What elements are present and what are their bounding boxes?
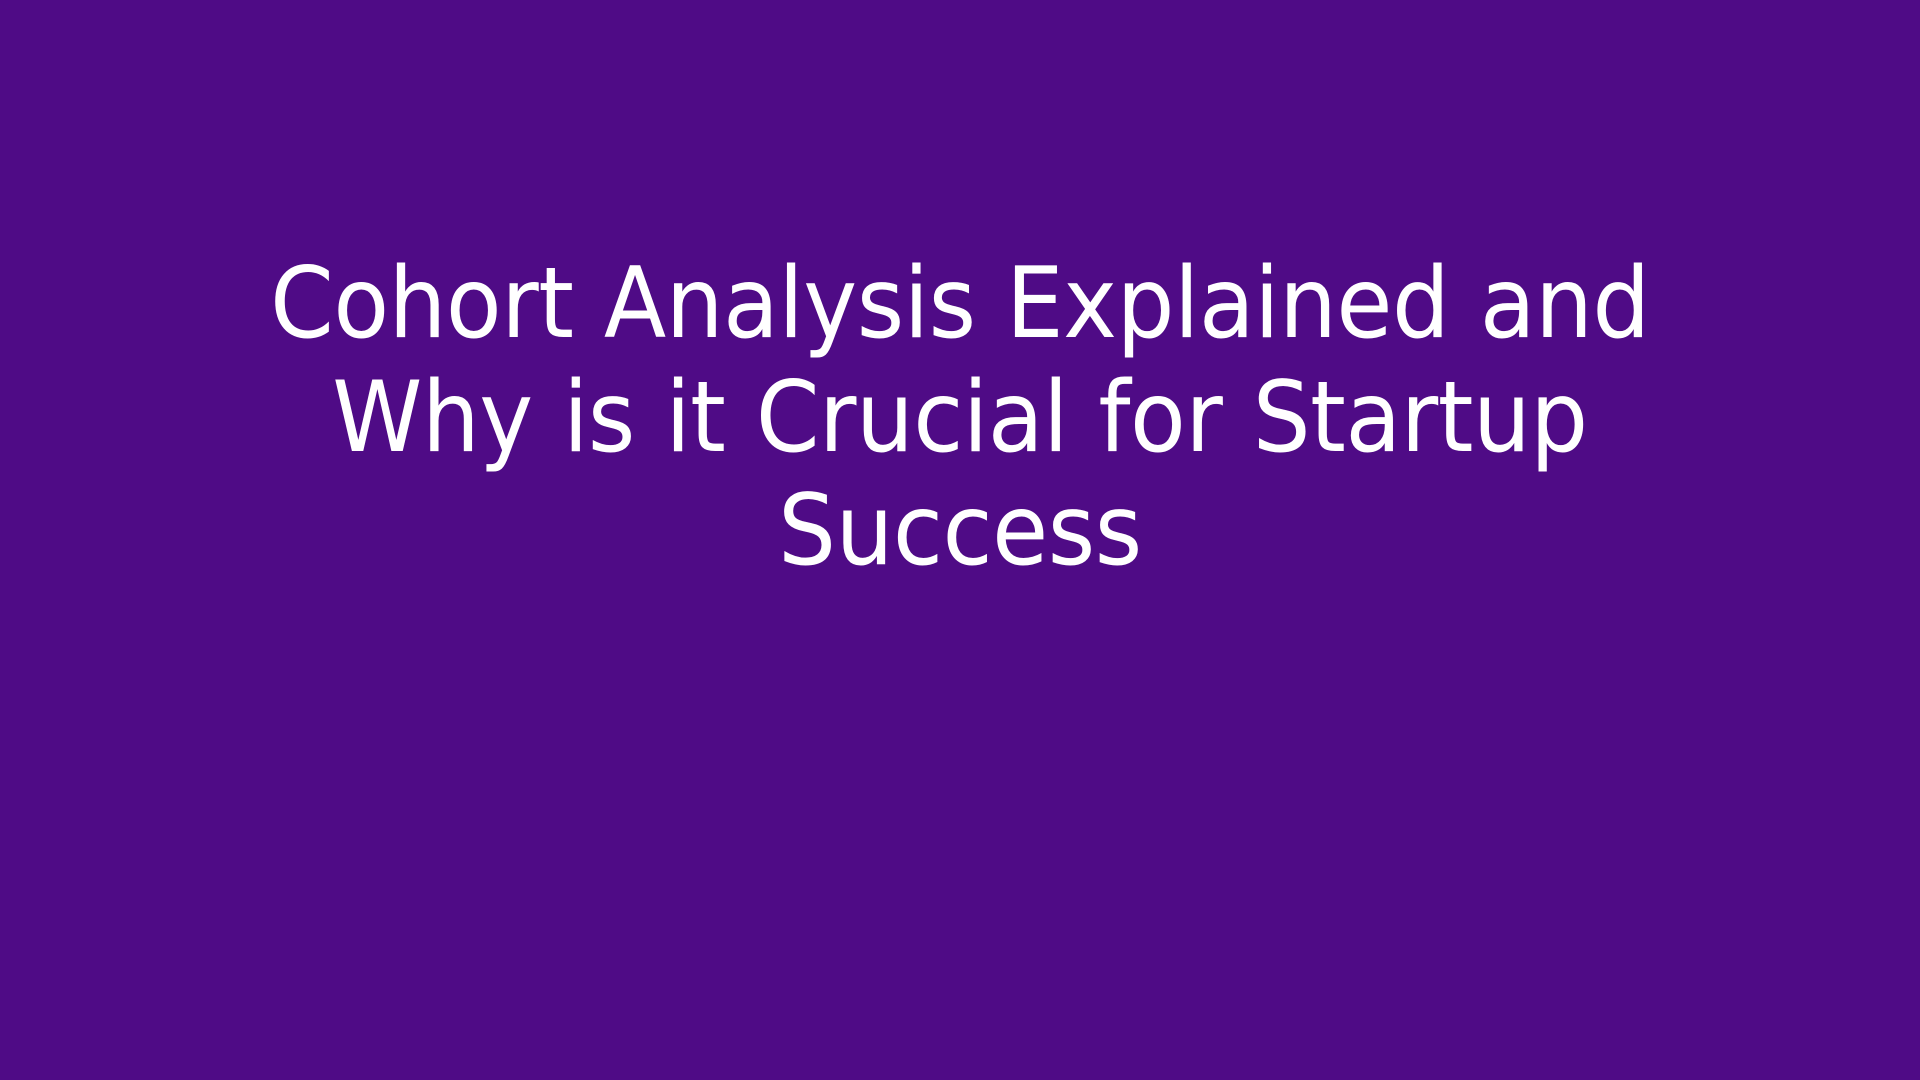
title-block: Cohort Analysis Explained and Why is it … <box>170 248 1750 589</box>
slide-title: Cohort Analysis Explained and Why is it … <box>235 248 1686 589</box>
title-slide: Cohort Analysis Explained and Why is it … <box>0 0 1920 1080</box>
